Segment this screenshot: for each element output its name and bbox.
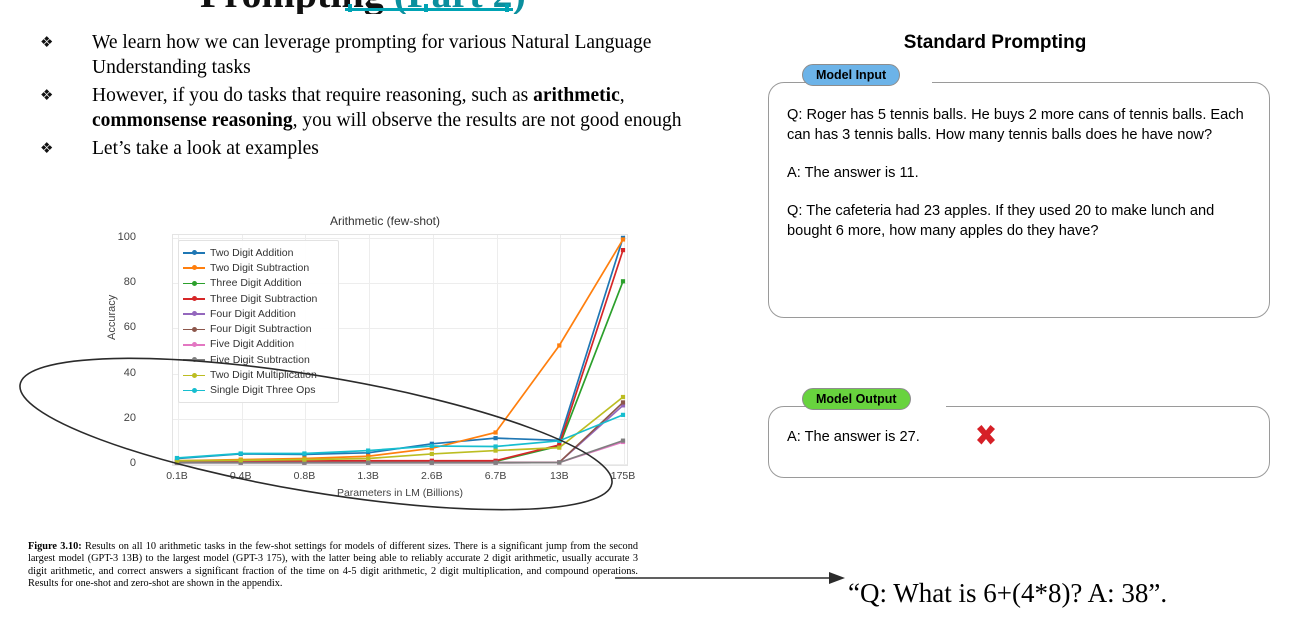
chart-data-point: [621, 279, 625, 283]
chart-data-point: [366, 461, 370, 465]
legend-swatch-icon: [183, 354, 205, 366]
chart-data-point: [430, 452, 434, 456]
legend-swatch-icon: [183, 262, 205, 274]
chart-x-tick: 0.4B: [230, 470, 252, 482]
chart-series-line: [177, 397, 623, 461]
chart-x-tick: 13B: [550, 470, 569, 482]
chart-legend-label: Two Digit Subtraction: [210, 262, 309, 274]
model-input-paragraph-1: Q: Roger has 5 tennis balls. He buys 2 m…: [787, 105, 1253, 145]
chart-data-point: [366, 456, 370, 460]
slide-title-strip: Prompting (Part 2): [0, 0, 1289, 14]
chart-y-tick: 40: [106, 367, 136, 379]
title-underline: [345, 8, 513, 11]
callout-arrow-head: [829, 572, 845, 584]
figure-caption-label: Figure 3.10:: [28, 541, 82, 552]
model-input-pill: Model Input: [802, 64, 900, 86]
legend-swatch-icon: [183, 308, 205, 320]
bullet-text: We learn how we can leverage prompting f…: [92, 30, 688, 80]
model-input-paragraph-2: A: The answer is 11.: [787, 163, 1253, 183]
chart-y-tick: 100: [106, 231, 136, 243]
chart-data-point: [493, 444, 497, 448]
model-output-text: A: The answer is 27.: [787, 429, 920, 445]
bullet-diamond-icon: ❖: [38, 136, 92, 161]
chart-y-tick: 0: [106, 457, 136, 469]
chart-legend-item: Three Digit Subtraction: [183, 291, 333, 306]
chart-data-point: [430, 444, 434, 448]
chart-y-tick: 80: [106, 276, 136, 288]
chart-data-point: [621, 400, 625, 404]
chart-legend: Two Digit AdditionTwo Digit SubtractionT…: [178, 240, 339, 403]
chart-y-tick: 60: [106, 321, 136, 333]
chart-data-point: [493, 448, 497, 452]
cross-mark-icon: [973, 423, 999, 449]
callout-quote: “Q: What is 6+(4*8)? A: 38”.: [848, 578, 1167, 609]
page-title: Standard Prompting: [830, 32, 1160, 54]
figure-caption-text: Results on all 10 arithmetic tasks in th…: [28, 541, 638, 589]
chart-legend-item: Three Digit Addition: [183, 276, 333, 291]
chart-legend-item: Two Digit Addition: [183, 245, 333, 260]
legend-swatch-icon: [183, 338, 205, 350]
chart-data-point: [621, 439, 625, 443]
chart-legend-label: Four Digit Subtraction: [210, 323, 312, 335]
legend-swatch-icon: [183, 277, 205, 289]
chart-data-point: [430, 461, 434, 465]
chart-data-point: [557, 460, 561, 464]
bullet-diamond-icon: ❖: [38, 30, 92, 55]
figure-caption: Figure 3.10: Results on all 10 arithmeti…: [28, 541, 638, 591]
list-item: ❖ However, if you do tasks that require …: [38, 83, 688, 133]
chart-y-tick: 20: [106, 412, 136, 424]
chart-legend-label: Three Digit Addition: [210, 277, 302, 289]
chart-legend-item: Five Digit Subtraction: [183, 352, 333, 367]
chart-data-point: [621, 395, 625, 399]
chart-data-point: [557, 446, 561, 450]
chart-legend-label: Two Digit Multiplication: [210, 369, 317, 381]
chart-data-point: [239, 451, 243, 455]
bullet-list: ❖ We learn how we can leverage prompting…: [38, 30, 688, 164]
chart-legend-label: Single Digit Three Ops: [210, 384, 315, 396]
chart-legend-label: Two Digit Addition: [210, 247, 293, 259]
chart-x-axis-label: Parameters in LM (Billions): [172, 487, 628, 499]
model-input-paragraph-3: Q: The cafeteria had 23 apples. If they …: [787, 201, 1253, 241]
chart-data-point: [493, 430, 497, 434]
list-item: ❖ We learn how we can leverage prompting…: [38, 30, 688, 80]
legend-swatch-icon: [183, 293, 205, 305]
chart-data-point: [175, 456, 179, 460]
chart-data-point: [302, 451, 306, 455]
chart-x-tick: 0.1B: [166, 470, 188, 482]
chart-legend-label: Three Digit Subtraction: [210, 293, 317, 305]
model-output-text-row: A: The answer is 27.: [787, 427, 1253, 447]
chart-legend-label: Five Digit Addition: [210, 338, 294, 350]
chart-x-tick: 175B: [611, 470, 636, 482]
legend-swatch-icon: [183, 384, 205, 396]
legend-swatch-icon: [183, 369, 205, 381]
legend-swatch-icon: [183, 247, 205, 259]
chart-legend-item: Two Digit Multiplication: [183, 367, 333, 382]
chart-x-tick: 0.8B: [294, 470, 316, 482]
bullet-diamond-icon: ❖: [38, 83, 92, 108]
slide-title-text: Prompting (Part 2): [200, 0, 526, 14]
title-tick-left: [348, 4, 352, 12]
chart-data-point: [621, 237, 625, 241]
legend-swatch-icon: [183, 323, 205, 335]
bullet-text: However, if you do tasks that require re…: [92, 83, 688, 133]
chart-x-tick: 6.7B: [485, 470, 507, 482]
chart-data-point: [366, 448, 370, 452]
bullet-text: Let’s take a look at examples: [92, 136, 319, 161]
title-tick-mid: [424, 4, 428, 12]
chart-legend-item: Two Digit Subtraction: [183, 260, 333, 275]
chart-x-tick: 2.6B: [421, 470, 443, 482]
chart-x-tick: 1.3B: [357, 470, 379, 482]
model-input-text: Q: Roger has 5 tennis balls. He buys 2 m…: [787, 105, 1253, 241]
chart-data-point: [493, 436, 497, 440]
chart-legend-label: Five Digit Subtraction: [210, 354, 310, 366]
chart-title: Arithmetic (few-shot): [120, 214, 650, 228]
chart-legend-item: Five Digit Addition: [183, 337, 333, 352]
chart-legend-item: Single Digit Three Ops: [183, 383, 333, 398]
chart-legend-label: Four Digit Addition: [210, 308, 296, 320]
chart-data-point: [493, 461, 497, 465]
chart-data-point: [557, 343, 561, 347]
arithmetic-chart: Arithmetic (few-shot) Accuracy Two Digit…: [120, 214, 650, 509]
model-input-box: Q: Roger has 5 tennis balls. He buys 2 m…: [768, 82, 1270, 318]
chart-data-point: [302, 458, 306, 462]
title-tick-right: [505, 4, 509, 12]
chart-data-point: [557, 439, 561, 443]
list-item: ❖ Let’s take a look at examples: [38, 136, 688, 161]
chart-legend-item: Four Digit Subtraction: [183, 321, 333, 336]
model-output-box: A: The answer is 27.: [768, 406, 1270, 478]
chart-data-point: [239, 458, 243, 462]
chart-data-point: [621, 248, 625, 252]
model-output-pill: Model Output: [802, 388, 911, 410]
chart-data-point: [621, 413, 625, 417]
chart-legend-item: Four Digit Addition: [183, 306, 333, 321]
